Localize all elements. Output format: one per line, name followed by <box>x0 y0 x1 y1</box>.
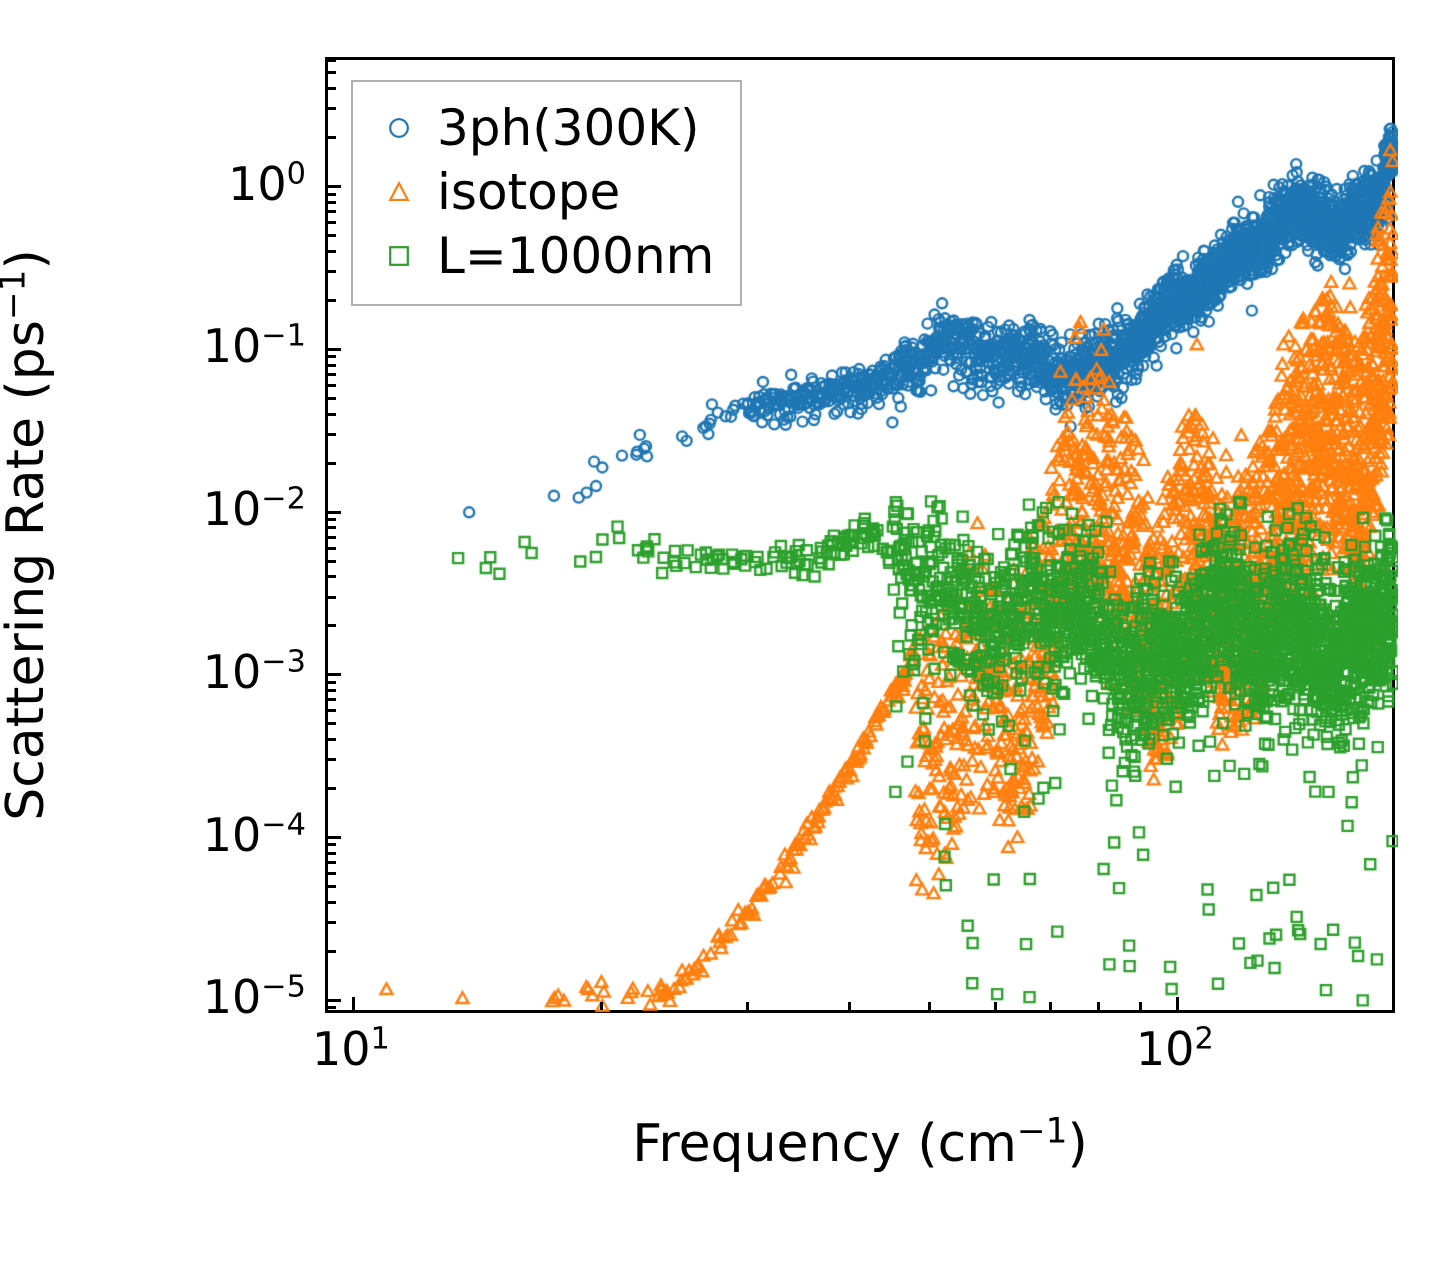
y-tick-minor <box>328 596 336 599</box>
y-tick-minor <box>328 107 336 110</box>
y-tick-major-1e0 <box>328 185 341 188</box>
legend-label: isotope <box>427 167 620 217</box>
y-tick-minor <box>328 221 336 224</box>
y-tick-label: 10−2 <box>203 486 306 532</box>
x-tick-minor <box>928 1002 931 1010</box>
y-tick-label: 100 <box>228 161 306 207</box>
y-tick-label: 10−4 <box>203 812 306 858</box>
y-tick-minor <box>328 698 336 701</box>
y-tick-minor <box>328 681 336 684</box>
y-tick-label: 10−3 <box>203 649 306 695</box>
y-tick-major-1e-2 <box>328 511 341 514</box>
x-tick-minor <box>994 1002 997 1010</box>
x-tick-minor <box>746 1002 749 1010</box>
y-tick-minor <box>328 689 336 692</box>
y-tick-minor <box>328 950 336 953</box>
y-tick-minor <box>328 384 336 387</box>
y-tick-minor <box>328 433 336 436</box>
legend-entry-isotope: isotope <box>371 160 714 224</box>
y-tick-minor <box>328 270 336 273</box>
y-tick-minor <box>328 71 336 74</box>
y-tick-minor <box>328 787 336 790</box>
y-tick-minor <box>328 709 336 712</box>
y-tick-minor <box>328 575 336 578</box>
y-tick-minor <box>328 299 336 302</box>
x-axis-title: Frequency (cm−1) <box>325 1118 1395 1170</box>
y-tick-minor <box>328 413 336 416</box>
x-tick-major-1e1 <box>352 997 355 1010</box>
x-tick-minor <box>1097 1002 1100 1010</box>
y-tick-major-1e-3 <box>328 673 341 676</box>
y-tick-minor <box>328 852 336 855</box>
y-tick-minor <box>328 624 336 627</box>
y-tick-major-1e-5 <box>328 999 341 1002</box>
x-tick-label: 102 <box>1136 1026 1214 1072</box>
y-tick-minor <box>328 136 336 139</box>
y-tick-minor <box>328 921 336 924</box>
y-tick-minor <box>328 758 336 761</box>
y-tick-label: 10−1 <box>203 323 306 369</box>
y-tick-major-1e-1 <box>328 348 341 351</box>
y-tick-minor <box>328 560 336 563</box>
y-tick-minor <box>328 722 336 725</box>
legend: 3ph(300K)isotopeL=1000nm <box>351 80 742 306</box>
square-marker-icon <box>371 245 427 267</box>
y-tick-minor <box>328 355 336 358</box>
y-tick-major-1e-4 <box>328 836 341 839</box>
y-tick-minor <box>328 843 336 846</box>
y-tick-minor <box>328 1006 336 1009</box>
y-tick-minor <box>328 547 336 550</box>
y-tick-minor <box>328 59 336 62</box>
y-tick-minor <box>328 861 336 864</box>
y-tick-minor <box>328 885 336 888</box>
circle-marker-icon <box>371 117 427 139</box>
x-tick-minor <box>600 1002 603 1010</box>
legend-entry-l-1000nm: L=1000nm <box>371 224 714 288</box>
y-tick-minor <box>328 193 336 196</box>
y-tick-minor <box>328 901 336 904</box>
y-tick-minor <box>328 234 336 237</box>
y-tick-minor <box>328 373 336 376</box>
legend-label: L=1000nm <box>427 231 714 281</box>
x-tick-label-group: 101102 <box>325 1026 1395 1096</box>
x-tick-label: 101 <box>312 1026 390 1072</box>
y-tick-minor <box>328 397 336 400</box>
y-tick-minor <box>328 526 336 529</box>
x-tick-major-1e2 <box>1176 997 1179 1010</box>
legend-label: 3ph(300K) <box>427 103 699 153</box>
y-tick-minor <box>328 872 336 875</box>
y-tick-minor <box>328 536 336 539</box>
scatter-plot-figure: Scattering Rate (ps−1) 10010−110−210−310… <box>0 0 1455 1265</box>
y-tick-minor <box>328 518 336 521</box>
y-tick-minor <box>328 738 336 741</box>
y-tick-minor <box>328 462 336 465</box>
y-tick-minor <box>328 250 336 253</box>
x-tick-minor <box>848 1002 851 1010</box>
y-tick-label-group: 10010−110−210−310−410−5 <box>0 57 306 1013</box>
x-tick-minor <box>1139 1002 1142 1010</box>
y-tick-minor <box>328 210 336 213</box>
y-tick-minor <box>328 201 336 204</box>
y-tick-minor <box>328 364 336 367</box>
y-tick-minor <box>328 87 336 90</box>
triangle-marker-icon <box>371 181 427 203</box>
x-tick-minor <box>1049 1002 1052 1010</box>
y-tick-label: 10−5 <box>203 974 306 1020</box>
legend-entry-3ph-300k: 3ph(300K) <box>371 96 714 160</box>
